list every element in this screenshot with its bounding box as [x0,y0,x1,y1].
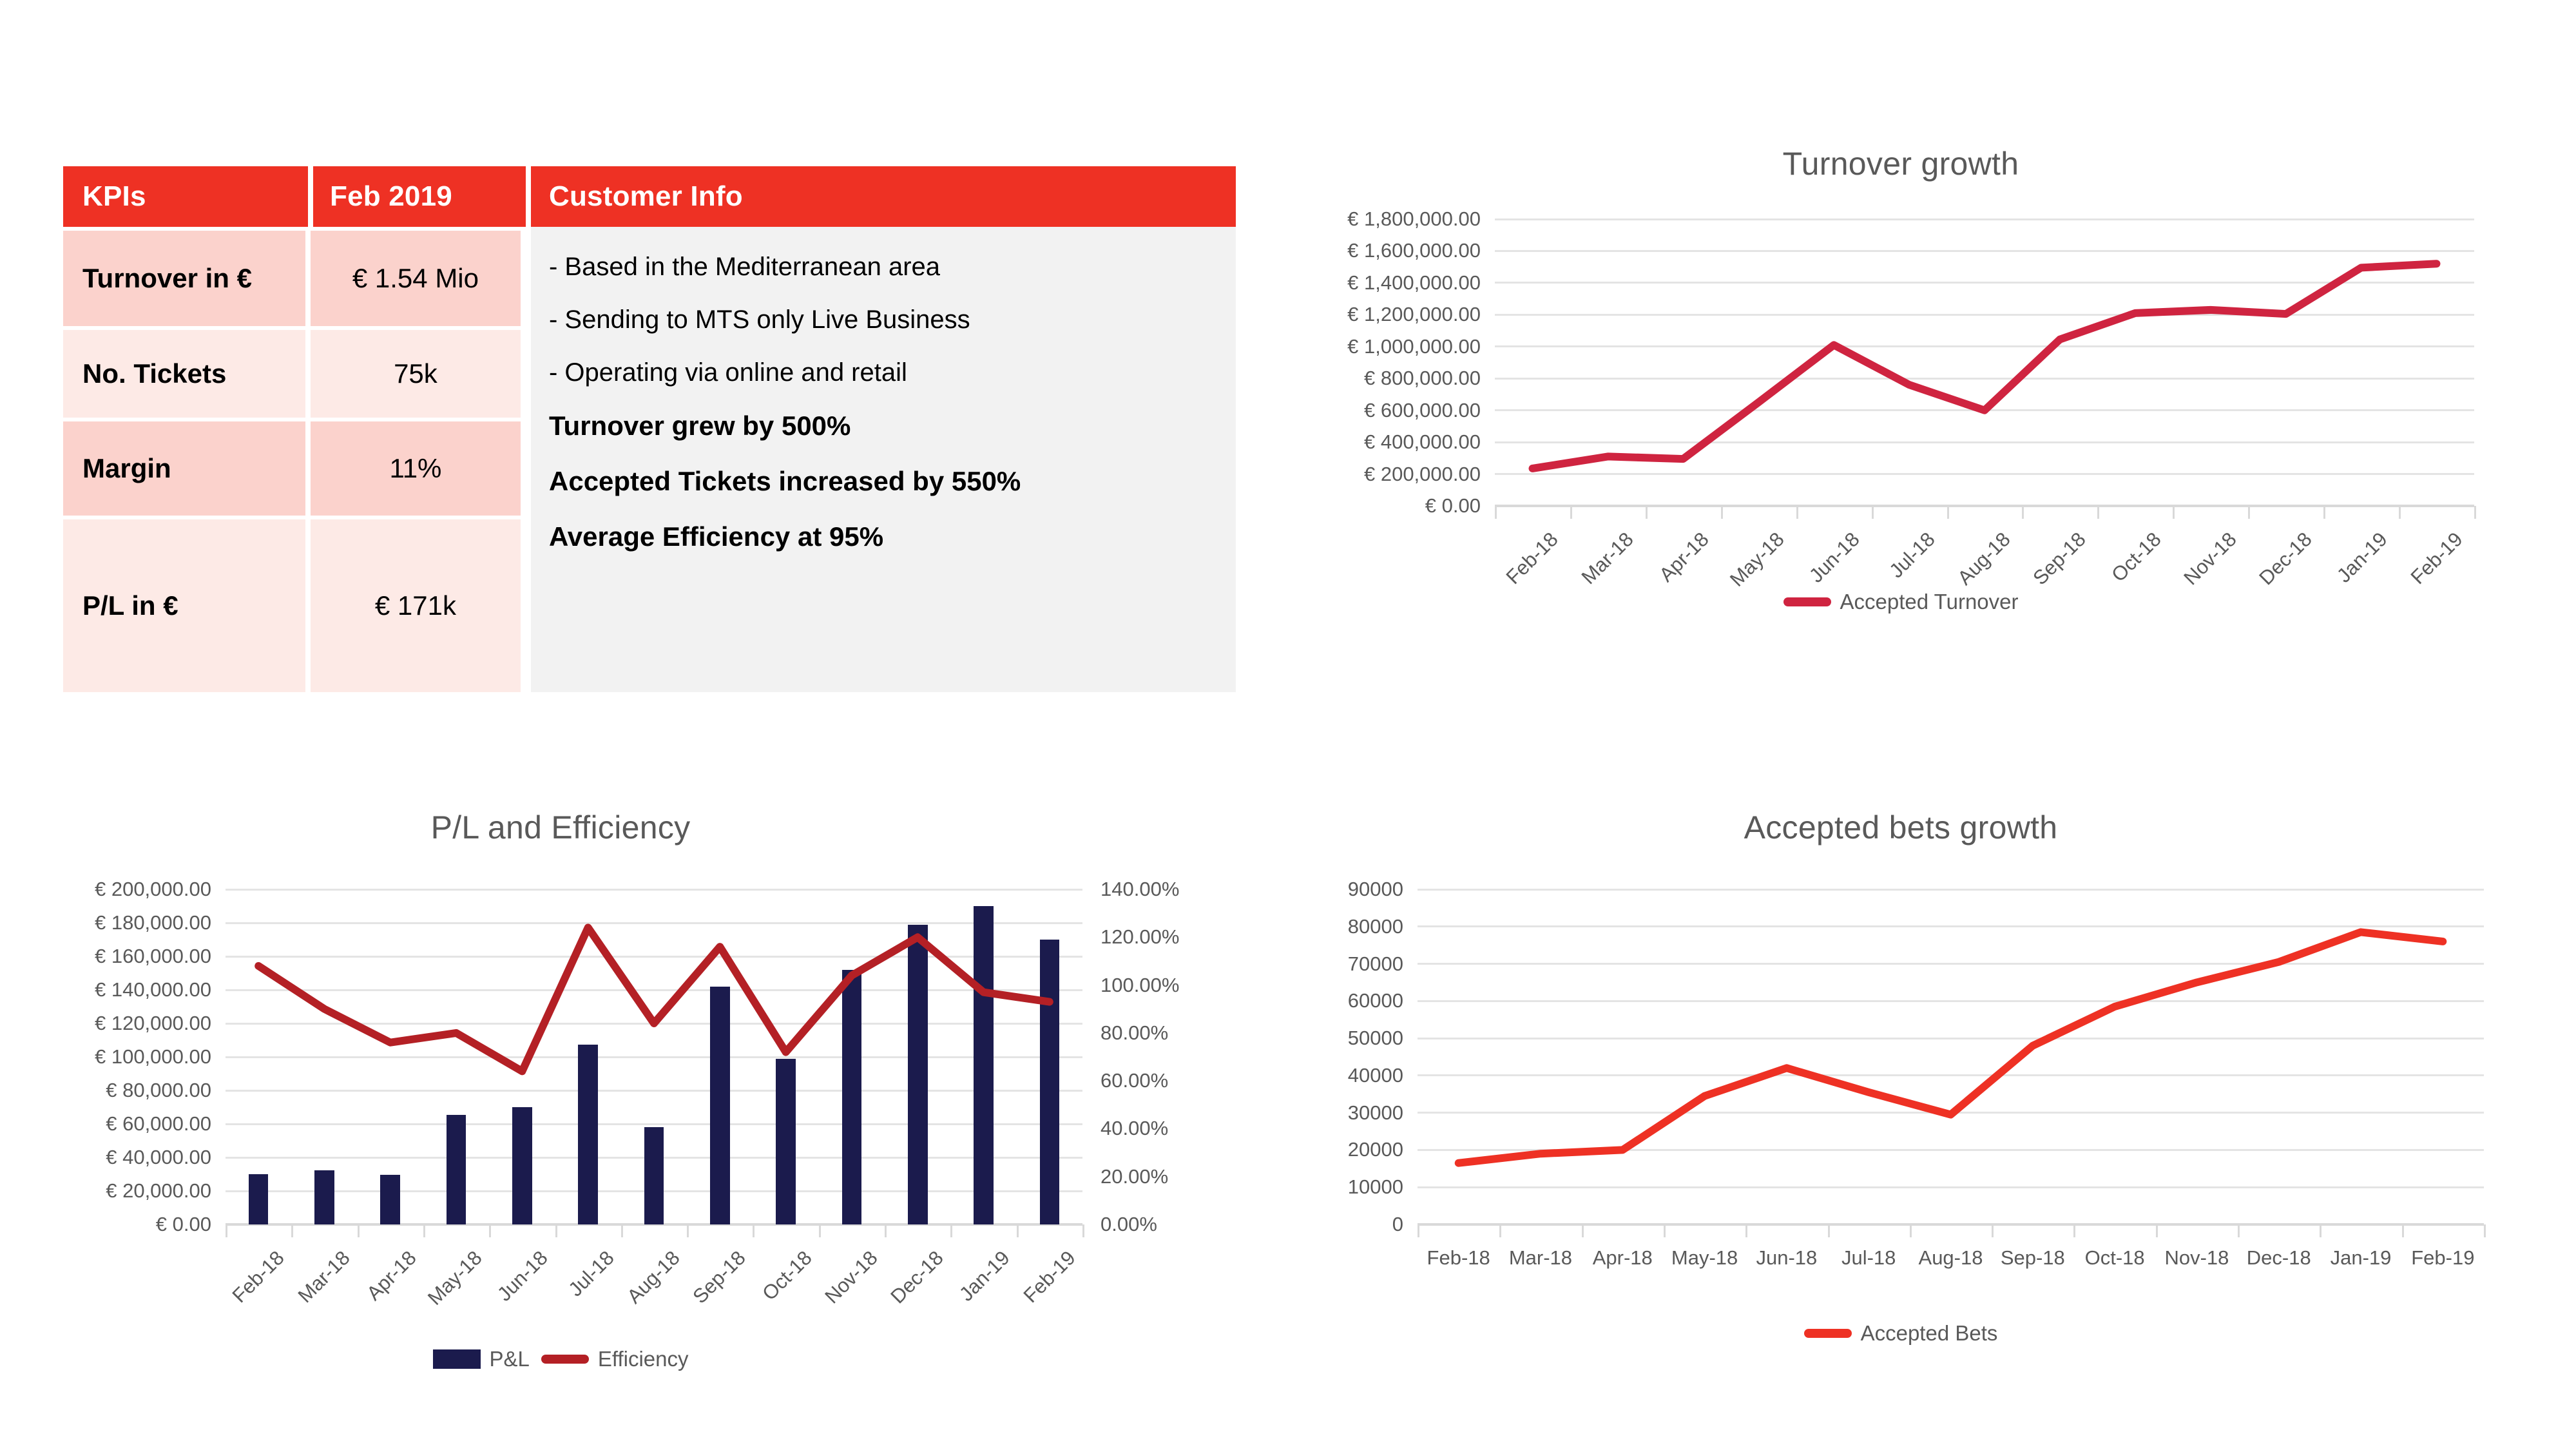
x-axis-tick-mark [226,1224,227,1237]
x-axis-tick-label: Jul-18 [564,1246,619,1301]
y-axis-tick-label: € 40,000.00 [106,1146,211,1169]
x-axis-tick-mark [950,1224,952,1237]
y-axis-tick-label: € 160,000.00 [95,945,211,968]
x-axis-tick-mark [2484,1224,2486,1237]
y-axis-tick-label: € 200,000.00 [95,878,211,901]
chart-accepted-bets-growth: Accepted bets growth 9000080000700006000… [1289,809,2513,1389]
x-axis-tick-label: Jul-18 [1885,528,1939,583]
kpi-table-header-row: KPIs Feb 2019 Customer Info [63,166,1236,227]
x-axis-tick-label: Mar-18 [1577,528,1639,589]
x-axis-tick-mark [2402,1224,2404,1237]
x-axis-tick-label: Dec-18 [2247,1246,2311,1270]
x-axis-tick-mark [2173,506,2175,519]
y-axis-tick-label: € 180,000.00 [95,911,211,934]
x-axis-tick-mark [423,1224,425,1237]
x-axis-tick-label: Nov-18 [820,1246,882,1308]
secondary-y-axis-tick-label: 80.00% [1101,1021,1168,1045]
x-axis-tick-mark [1418,1224,1419,1237]
x-axis-tick-label: Sep-18 [689,1246,751,1308]
plot-area-accepted-bets: 9000080000700006000050000400003000020000… [1418,889,2484,1224]
y-axis-tick-label: 60000 [1348,989,1403,1012]
x-axis-tick-mark [2320,1224,2321,1237]
x-axis-tick-label: Sep-18 [2028,528,2090,590]
legend-pl-efficiency: P&LEfficiency [26,1347,1095,1371]
x-axis-tick-mark [2399,506,2401,519]
legend-label: P&L [490,1347,530,1371]
plot-area-pl-efficiency: € 200,000.00€ 180,000.00€ 160,000.00€ 14… [226,889,1082,1224]
customer-info-highlight-2: Accepted Tickets increased by 550% [549,468,1236,495]
x-axis-tick-label: Mar-18 [294,1246,355,1308]
y-axis-tick-label: € 0.00 [156,1213,211,1236]
y-axis-tick-label: € 1,400,000.00 [1347,271,1481,295]
chart-title-accepted-bets: Accepted bets growth [1289,809,2513,846]
x-axis-tick-label: Jun-18 [493,1246,552,1306]
x-axis-tick-label: Oct-18 [2085,1246,2145,1270]
secondary-y-axis-tick-label: 60.00% [1101,1069,1168,1092]
x-axis-tick-label: Jan-19 [2331,1246,2392,1270]
legend-swatch-icon [1804,1329,1852,1338]
x-axis-tick-mark [1721,506,1723,519]
x-axis-tick-mark [1017,1224,1019,1237]
series-layer [1495,219,2474,506]
x-axis-tick-label: Aug-18 [622,1246,684,1308]
y-axis-tick-label: € 800,000.00 [1364,367,1481,390]
x-axis-tick-mark [1664,1224,1666,1237]
x-axis-tick-mark [1582,1224,1584,1237]
x-axis-tick-mark [2097,506,2099,519]
y-axis-tick-label: 20000 [1348,1138,1403,1161]
y-axis-tick-label: € 140,000.00 [95,978,211,1001]
kpi-value-turnover: € 1.54 Mio [311,231,521,326]
kpi-table: KPIs Feb 2019 Customer Info Turnover in … [63,166,1236,692]
legend-item-accepted-bets[interactable]: Accepted Bets [1804,1321,1998,1346]
legend-label: Accepted Bets [1861,1321,1998,1346]
x-axis-tick-label: Jun-18 [1756,1246,1817,1270]
y-axis-tick-label: 70000 [1348,952,1403,976]
y-axis-tick-label: 40000 [1348,1064,1403,1087]
x-axis-tick-label: Feb-18 [1427,1246,1490,1270]
y-axis-tick-label: € 0.00 [1425,494,1481,517]
table-row: No. Tickets 75k [63,330,526,418]
x-axis-tick-mark [1495,506,1497,519]
chart-title-turnover-growth: Turnover growth [1289,145,2513,182]
x-axis-tick-mark [2474,506,2476,519]
x-axis-tick-label: Nov-18 [2179,528,2241,590]
secondary-y-axis-tick-label: 100.00% [1101,974,1179,997]
dashboard-page: KPIs Feb 2019 Customer Info Turnover in … [0,0,2576,1450]
plot-area-turnover-growth: € 1,800,000.00€ 1,600,000.00€ 1,400,000.… [1495,219,2474,506]
customer-info-highlight-3: Average Efficiency at 95% [549,523,1236,550]
x-axis-tick-mark [1992,1224,1994,1237]
x-axis-tick-label: Oct-18 [758,1246,816,1305]
x-axis-tick-mark [2238,1224,2240,1237]
table-row: Margin 11% [63,421,526,516]
x-axis-tick-mark [1910,1224,1912,1237]
x-axis-tick-mark [358,1224,360,1237]
chart-pl-efficiency: P/L and Efficiency € 200,000.00€ 180,000… [26,809,1231,1389]
x-axis-tick-mark [291,1224,293,1237]
series-layer [1418,889,2484,1224]
kpi-label-margin: Margin [63,421,305,516]
table-row: Turnover in € € 1.54 Mio [63,231,526,326]
legend-swatch-icon [433,1349,481,1369]
customer-info-bullet-3: - Operating via online and retail [549,360,1236,385]
legend-label: Accepted Turnover [1840,590,2019,614]
chart-turnover-growth: Turnover growth € 1,800,000.00€ 1,600,00… [1289,145,2513,680]
y-axis-tick-label: 50000 [1348,1027,1403,1050]
x-axis-tick-mark [687,1224,689,1237]
x-axis-tick-mark [2073,1224,2075,1237]
secondary-y-axis-tick-label: 0.00% [1101,1213,1157,1236]
x-axis-tick-label: May-18 [1671,1246,1738,1270]
customer-info-highlight-1: Turnover grew by 500% [549,412,1236,440]
x-axis-tick-mark [2022,506,2024,519]
x-axis-tick-label: Mar-18 [1509,1246,1572,1270]
x-axis-tick-mark [819,1224,821,1237]
x-axis-tick-mark [885,1224,887,1237]
legend-label: Efficiency [598,1347,689,1371]
y-axis-tick-label: € 120,000.00 [95,1012,211,1035]
legend-item-accepted-turnover[interactable]: Accepted Turnover [1783,590,2019,614]
secondary-y-axis-tick-label: 20.00% [1101,1165,1168,1188]
x-axis-tick-mark [1745,1224,1747,1237]
secondary-y-axis-tick-label: 120.00% [1101,925,1179,949]
kpi-table-header-kpis: KPIs [63,166,308,227]
x-axis-tick-mark [1872,506,1874,519]
x-axis-tick-mark [555,1224,557,1237]
series-layer [226,889,1082,1224]
legend-swatch-icon [541,1355,589,1364]
kpi-label-tickets: No. Tickets [63,330,305,418]
x-axis-tick-mark [753,1224,755,1237]
y-axis-tick-label: € 20,000.00 [106,1179,211,1203]
x-axis-tick-mark [1570,506,1572,519]
y-axis-tick-label: € 400,000.00 [1364,430,1481,454]
kpi-table-body: Turnover in € € 1.54 Mio No. Tickets 75k… [63,227,1236,692]
x-axis-tick-label: Jun-18 [1805,528,1864,587]
y-axis-tick-label: 10000 [1348,1175,1403,1199]
legend-turnover-growth: Accepted Turnover [1289,590,2513,614]
y-axis-tick-label: € 200,000.00 [1364,463,1481,486]
y-axis-tick-label: € 1,800,000.00 [1347,208,1481,231]
x-axis-tick-label: Apr-18 [362,1246,421,1305]
x-axis-tick-label: Jan-19 [2332,528,2392,587]
x-axis-tick-label: Dec-18 [887,1246,948,1308]
line-series-accepted-turnover [1533,264,2437,469]
secondary-y-axis-tick-label: 140.00% [1101,878,1179,901]
y-axis-tick-label: € 1,200,000.00 [1347,303,1481,326]
customer-info-bullet-1: - Based in the Mediterranean area [549,254,1236,280]
table-row: P/L in € € 171k [63,519,526,692]
x-axis-tick-label: Feb-19 [2411,1246,2474,1270]
x-axis-tick-label: May-18 [423,1246,487,1310]
line-series-efficiency [258,927,1050,1071]
x-axis-tick-label: Aug-18 [1919,1246,1983,1270]
kpi-table-header-customer-info: Customer Info [531,166,1236,227]
kpi-value-tickets: 75k [311,330,521,418]
legend-item-p-l[interactable]: P&L [433,1347,530,1371]
kpi-value-margin: 11% [311,421,521,516]
x-axis-tick-label: Nov-18 [2164,1246,2229,1270]
x-axis-tick-label: Feb-18 [1502,528,1563,589]
chart-title-pl-efficiency: P/L and Efficiency [26,809,1095,846]
customer-info-bullet-2: - Sending to MTS only Live Business [549,307,1236,333]
y-axis-tick-label: € 60,000.00 [106,1112,211,1136]
x-axis-tick-mark [1947,506,1949,519]
kpi-label-pl: P/L in € [63,519,305,692]
legend-accepted-bets: Accepted Bets [1289,1321,2513,1346]
x-axis-tick-mark [489,1224,491,1237]
x-axis-tick-label: Sep-18 [2001,1246,2065,1270]
customer-info-panel: - Based in the Mediterranean area - Send… [531,227,1236,692]
x-axis-tick-label: Jul-18 [1841,1246,1896,1270]
x-axis-tick-label: Feb-18 [228,1246,289,1308]
kpi-label-turnover: Turnover in € [63,231,305,326]
x-axis-tick-mark [2323,506,2325,519]
x-axis-tick-mark [1082,1224,1084,1237]
x-axis-tick-label: Aug-18 [1953,528,2015,590]
y-axis-tick-label: 80000 [1348,915,1403,938]
y-axis-tick-label: € 1,000,000.00 [1347,335,1481,358]
x-axis-tick-label: Dec-18 [2254,528,2316,590]
x-axis-tick-label: Oct-18 [2107,528,2166,586]
kpi-table-left-columns: Turnover in € € 1.54 Mio No. Tickets 75k… [63,227,526,692]
y-axis-tick-label: 30000 [1348,1101,1403,1125]
x-axis-tick-mark [2156,1224,2158,1237]
kpi-table-header-period: Feb 2019 [313,166,526,227]
secondary-y-axis-tick-label: 40.00% [1101,1117,1168,1140]
x-axis-tick-label: Jan-19 [954,1246,1014,1306]
x-axis-tick-label: Apr-18 [1655,528,1714,586]
x-axis-tick-mark [621,1224,623,1237]
x-axis-tick-label: Feb-19 [1019,1246,1080,1308]
x-axis-tick-mark [2248,506,2250,519]
legend-swatch-icon [1783,597,1831,606]
x-axis-tick-mark [1646,506,1648,519]
x-axis-tick-label: Feb-19 [2406,528,2467,589]
y-axis-tick-label: 90000 [1348,878,1403,901]
y-axis-tick-label: € 600,000.00 [1364,399,1481,422]
y-axis-tick-label: € 1,600,000.00 [1347,239,1481,262]
x-axis-tick-label: May-18 [1725,528,1789,592]
legend-item-efficiency[interactable]: Efficiency [541,1347,689,1371]
kpi-value-pl: € 171k [311,519,521,692]
line-series-accepted-bets [1459,932,2443,1163]
y-axis-tick-label: 0 [1392,1213,1403,1236]
x-axis-tick-mark [1796,506,1798,519]
x-axis-tick-label: Apr-18 [1593,1246,1653,1270]
y-axis-tick-label: € 80,000.00 [106,1079,211,1102]
x-axis-tick-mark [1828,1224,1830,1237]
y-axis-tick-label: € 100,000.00 [95,1045,211,1068]
x-axis-tick-mark [1499,1224,1501,1237]
